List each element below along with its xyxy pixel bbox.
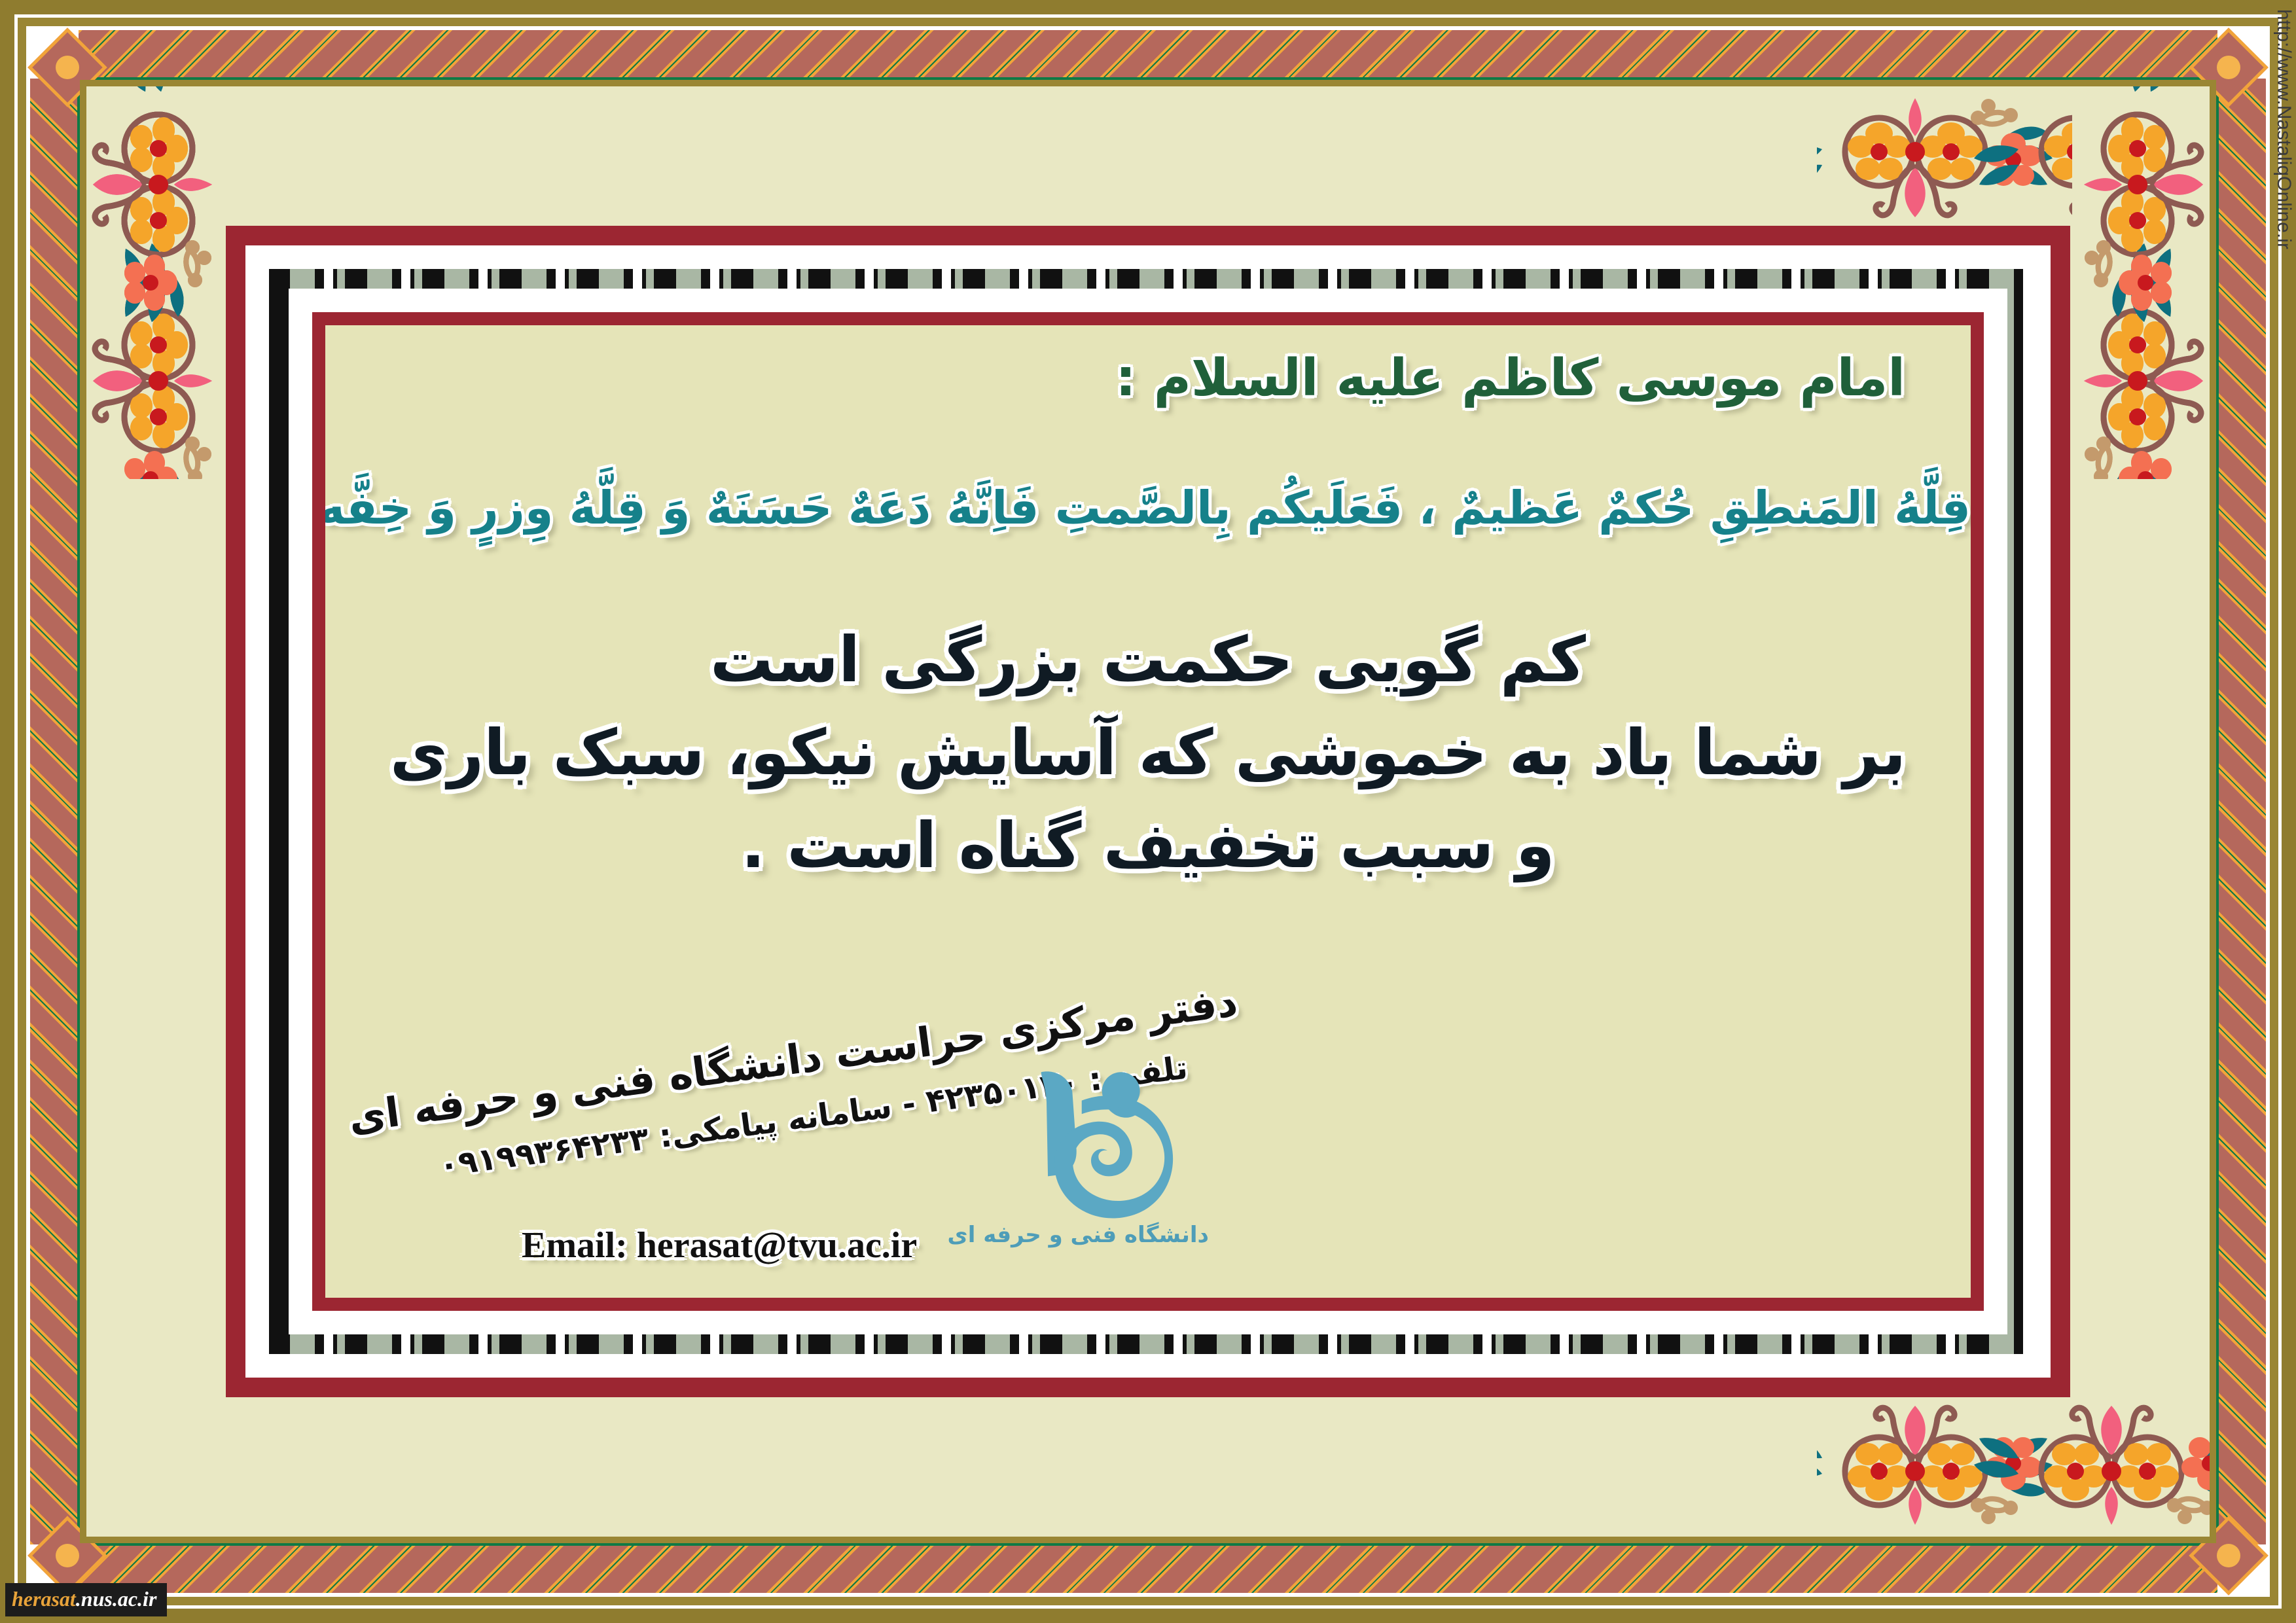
- page-title: امام موسی کاظم علیه السلام :: [1115, 349, 1905, 408]
- watermark-bold-part: herasat: [12, 1587, 76, 1611]
- translation-line-3: و سبب تخفیف گناه است .: [325, 799, 1971, 892]
- watermark-bottom-badge: herasat.nus.ac.ir: [5, 1583, 167, 1616]
- translation-line-1: کم گویی حکمت بزرگی است: [325, 613, 1971, 706]
- inner-white-line-outer: امام موسی کاظم علیه السلام : قِلَّهُ الم…: [245, 245, 2051, 1378]
- poster-canvas: امام موسی کاظم علیه السلام : قِلَّهُ الم…: [0, 0, 2296, 1623]
- braid-pattern-right: [2219, 79, 2266, 1544]
- content-area: امام موسی کاظم علیه السلام : قِلَّهُ الم…: [325, 325, 1971, 1298]
- braid-pattern-left: [30, 79, 77, 1544]
- translation-line-2: بر شما باد به خموشی که آسایش نیکو، سبک ب…: [325, 706, 1971, 799]
- university-logo: دانشگاه فنی و حرفه ای: [1006, 1054, 1209, 1244]
- logo-caption: دانشگاه فنی و حرفه ای: [1006, 1222, 1209, 1248]
- sage-dotted-band: امام موسی کاظم علیه السلام : قِلَّهُ الم…: [269, 269, 2027, 1354]
- email-line[interactable]: Email: herasat@tvu.ac.ir: [522, 1224, 917, 1266]
- inner-white-line-inner: امام موسی کاظم علیه السلام : قِلَّهُ الم…: [289, 289, 2007, 1334]
- arabic-hadith-text: قِلَّهُ المَنطِقِ حُكمٌ عَظيمٌ ، فَعَلَي…: [325, 481, 1971, 535]
- braid-pattern-bottom: [79, 1546, 2217, 1593]
- floral-scroll-right: [2072, 86, 2210, 479]
- floral-scroll-left: [86, 86, 224, 479]
- tvu-logo-mark: [1006, 1054, 1209, 1244]
- footer: دفتر مرکزی حراست دانشگاه فنی و حرفه ای ت…: [325, 1054, 1971, 1270]
- braid-pattern-top: [79, 30, 2217, 77]
- inner-maroon-frame: امام موسی کاظم علیه السلام : قِلَّهُ الم…: [226, 226, 2070, 1397]
- translation-block: کم گویی حکمت بزرگی است بر شما باد به خمو…: [325, 613, 1971, 892]
- watermark-right-url: http://www.NastaliqOnline.ir: [2272, 9, 2295, 249]
- watermark-rest-part: .nus.ac.ir: [76, 1587, 157, 1611]
- inner-maroon-band: امام موسی کاظم علیه السلام : قِلَّهُ الم…: [312, 312, 1984, 1311]
- floral-scroll-bottom: [1817, 1399, 2210, 1537]
